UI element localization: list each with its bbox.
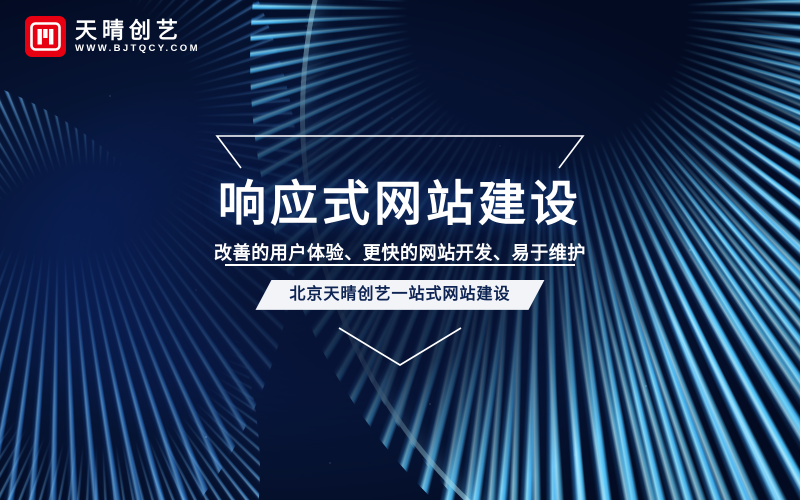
hero-subtitle: 改善的用户体验、更快的网站开发、易于维护 [214, 244, 586, 262]
angled-bracket-frame-icon [215, 134, 585, 170]
ribbon-top-rule [225, 264, 575, 266]
brand-logo[interactable]: 天晴创艺 WWW.BJTQCY.COM [25, 16, 200, 57]
tagline-text: 北京天晴创艺一站式网站建设 [289, 287, 510, 303]
promo-banner: 天晴创艺 WWW.BJTQCY.COM 响应式网站建设 改善的用户体验、更快的网… [0, 0, 800, 500]
brand-name-cn: 天晴创艺 [75, 20, 200, 42]
hero-content: 响应式网站建设 改善的用户体验、更快的网站开发、易于维护 北京天晴创艺一站式网站… [0, 134, 800, 368]
chevron-down-icon [335, 326, 465, 368]
brand-logo-text: 天晴创艺 WWW.BJTQCY.COM [75, 20, 200, 54]
tagline-ribbon: 北京天晴创艺一站式网站建设 [255, 280, 544, 310]
page-title: 响应式网站建设 [218, 179, 582, 231]
tqcy-monogram-icon [25, 16, 66, 57]
brand-website: WWW.BJTQCY.COM [75, 44, 200, 54]
